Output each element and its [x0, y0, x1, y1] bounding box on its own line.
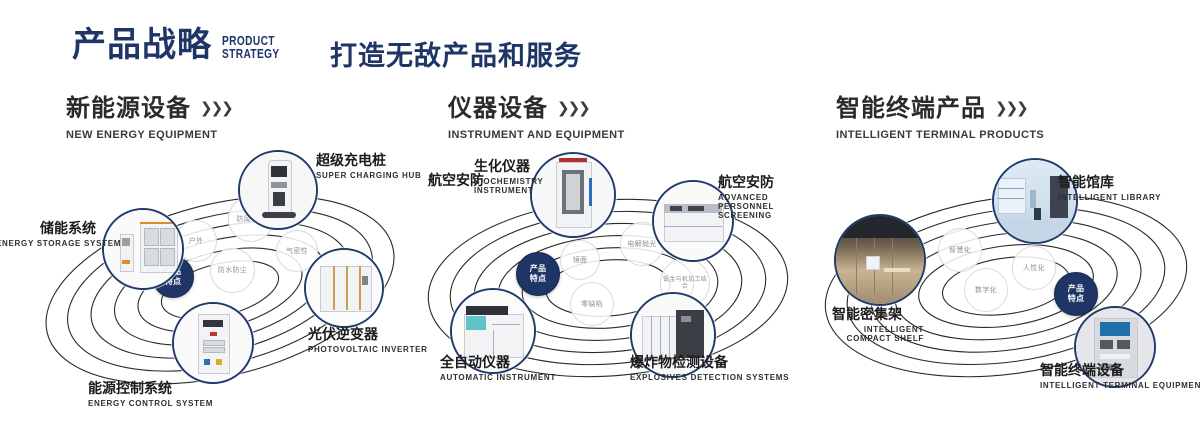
poster-title-en-line2: STRATEGY [222, 47, 280, 60]
caption-energy-control-system: 能源控制系统 ENERGY CONTROL SYSTEM [88, 382, 213, 409]
section-title-cn: 新能源设备 [66, 96, 191, 120]
energy-storage-system-photo [104, 210, 182, 288]
caption-intelligent-compact-shelf: 智能密集架 INTELLIGENT COMPACT SHELF [832, 308, 924, 344]
caption-explosives-detection-systems: 爆炸物检测设备 EXPLOSIVES DETECTION SYSTEMS [630, 356, 789, 383]
caption-energy-storage-system: 储能系统 ENERGY STORAGE SYSTEM [0, 222, 96, 249]
poster-subtitle: 打造无敌产品和服务 [330, 34, 582, 73]
energy-control-system-photo [174, 304, 252, 382]
section-heading-instrument: 仪器设备 ❯❯❯ INSTRUMENT AND EQUIPMENT [448, 96, 625, 141]
photovoltaic-inverter-photo [306, 250, 382, 326]
caption-advanced-personnel-screening: 航空安防 ADVANCED PERSONNEL SCREENING [718, 176, 814, 221]
cluster-instrument: 镜面 电解抛光 零缺陷 钣金与机加工结合 产品 特点 航空安防 [408, 160, 808, 410]
section-title-en: INSTRUMENT AND EQUIPMENT [448, 129, 625, 141]
cluster-new-energy: 户外 防腐防锈 防水防尘 气密性 产品 特点 [20, 160, 420, 410]
poster-title-cn: 产品战略 [72, 28, 212, 62]
feature-bubble: 零缺陷 [570, 282, 614, 326]
feature-bubble: 镜面 [560, 240, 600, 280]
section-heading-intelligent-terminal: 智能终端产品 ❯❯❯ INTELLIGENT TERMINAL PRODUCTS [836, 96, 1044, 141]
chevron-right-icon: ❯❯❯ [995, 99, 1027, 117]
caption-intelligent-library: 智能馆库 INTELLIGENT LIBRARY [1058, 176, 1161, 203]
section-title-en: INTELLIGENT TERMINAL PRODUCTS [836, 129, 1044, 141]
product-node-intelligent-compact-shelf[interactable] [834, 214, 926, 306]
caption-automatic-instrument: 全自动仪器 AUTOMATIC INSTRUMENT [440, 356, 556, 383]
poster-title-en: PRODUCT STRATEGY [222, 34, 280, 60]
chevron-right-icon: ❯❯❯ [557, 99, 589, 117]
feature-bubble: 人性化 [1012, 246, 1056, 290]
super-charging-hub-photo [240, 152, 316, 228]
section-heading-new-energy: 新能源设备 ❯❯❯ NEW ENERGY EQUIPMENT [66, 96, 232, 141]
caption-biochemistry-instrument: 生化仪器 BIOCHEMISTRY INSTRUMENT [474, 160, 552, 196]
section-title-cn: 智能终端产品 [836, 96, 986, 120]
caption-aviation-security-left: 航空安防 [384, 174, 484, 190]
feature-bubble: 智慧化 [938, 228, 982, 272]
poster-header: 产品战略 PRODUCT STRATEGY [72, 28, 296, 62]
product-node-energy-storage-system[interactable] [102, 208, 184, 290]
poster-canvas: 产品战略 PRODUCT STRATEGY 打造无敌产品和服务 新能源设备 ❯❯… [0, 0, 1200, 422]
product-node-super-charging-hub[interactable] [238, 150, 318, 230]
product-node-photovoltaic-inverter[interactable] [304, 248, 384, 328]
section-title-cn: 仪器设备 [448, 96, 548, 120]
intelligent-compact-shelf-photo [836, 216, 924, 304]
section-title-en: NEW ENERGY EQUIPMENT [66, 129, 232, 141]
chevron-right-icon: ❯❯❯ [200, 99, 232, 117]
caption-intelligent-terminal-equipment: 智能终端设备 INTELLIGENT TERMINAL EQUIPMENT [1040, 364, 1200, 391]
product-node-energy-control-system[interactable] [172, 302, 254, 384]
feature-bubble: 数字化 [964, 268, 1008, 312]
cluster-intelligent-terminal: 智慧化 数字化 人性化 产品 特点 智能馆库 INTE [810, 158, 1200, 408]
feature-bubble: 防水防尘 [210, 248, 255, 293]
